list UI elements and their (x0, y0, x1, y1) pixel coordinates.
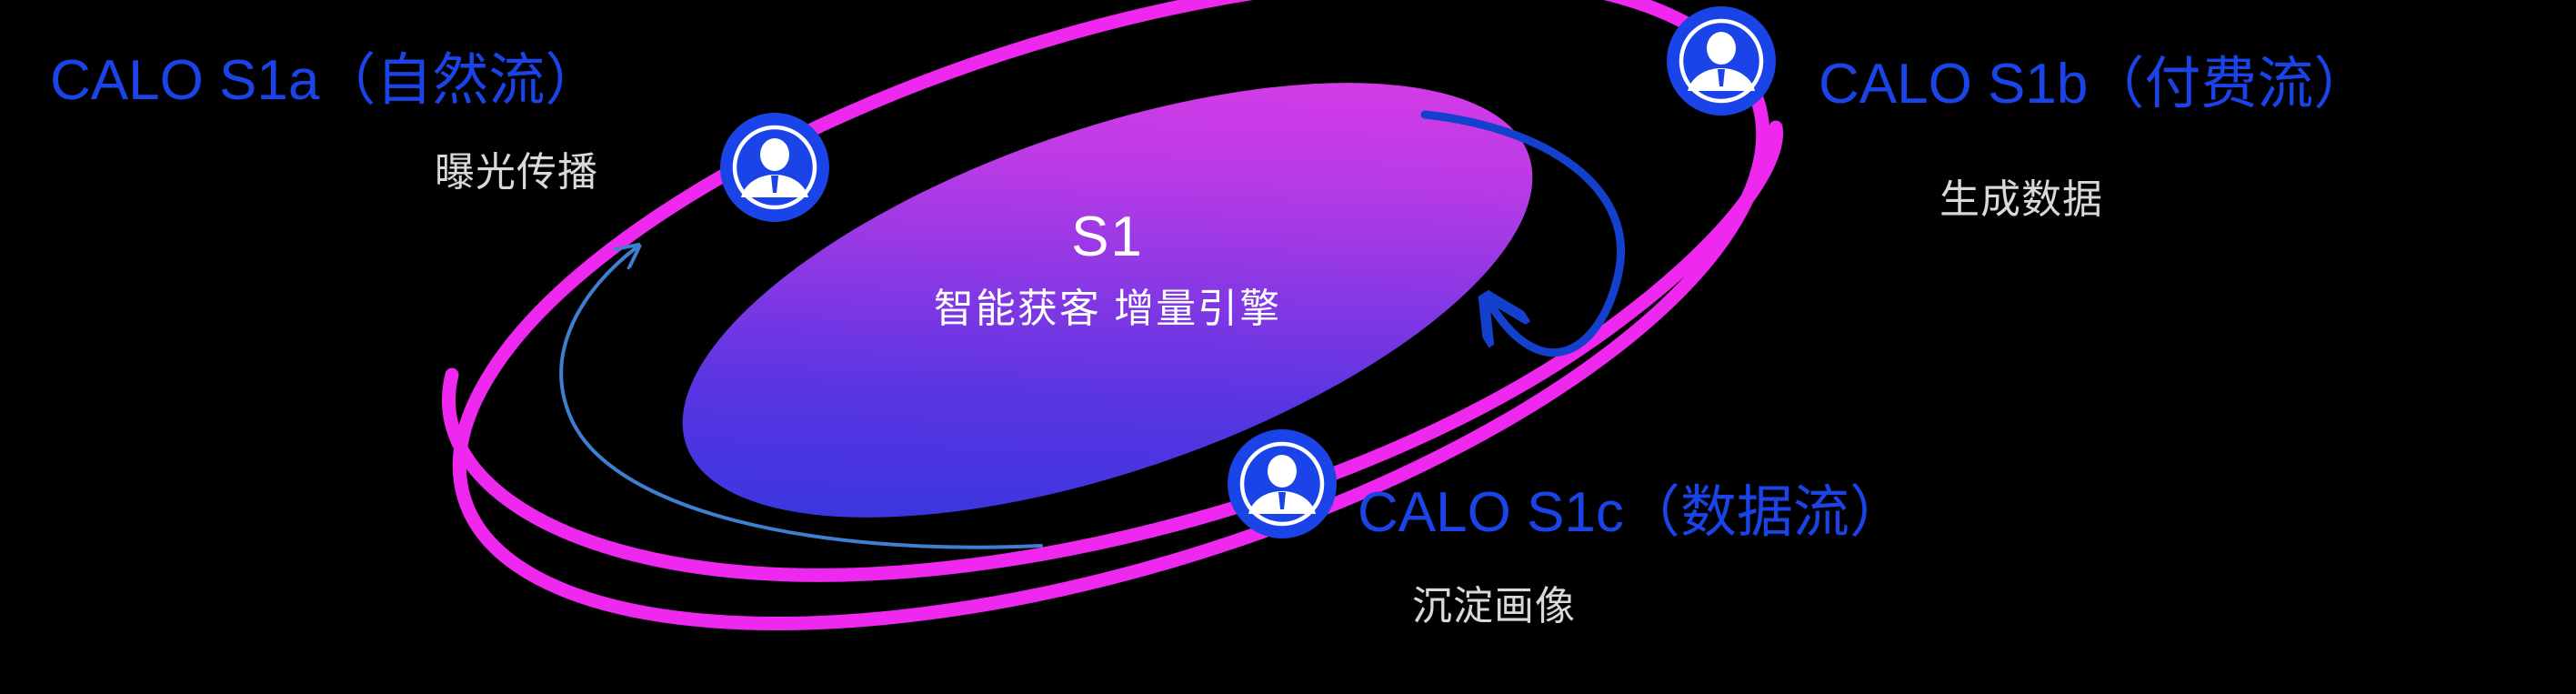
node-sublabel-s1a: 曝光传播 (435, 153, 598, 193)
node-icon-s1b[interactable] (1667, 6, 1776, 116)
node-title-s1c: CALO S1c（数据流） (1358, 485, 1906, 541)
node-title-s1a: CALO S1a（自然流） (50, 53, 601, 109)
node-title-s1b: CALO S1b（付费流） (1819, 56, 2370, 113)
diagram-canvas: S1 智能获客 增量引擎 CALO S1a（自然流） 曝光传播 CALO S1b… (0, 0, 2576, 694)
core-title: S1 (1017, 209, 1198, 266)
node-icon-s1a[interactable] (720, 113, 829, 222)
node-icon-s1c[interactable] (1228, 429, 1337, 538)
node-sublabel-s1c: 沉淀画像 (1412, 587, 1576, 627)
node-sublabel-s1b: 生成数据 (1940, 180, 2103, 220)
core-subtitle: 智能获客 增量引擎 (817, 289, 1398, 329)
